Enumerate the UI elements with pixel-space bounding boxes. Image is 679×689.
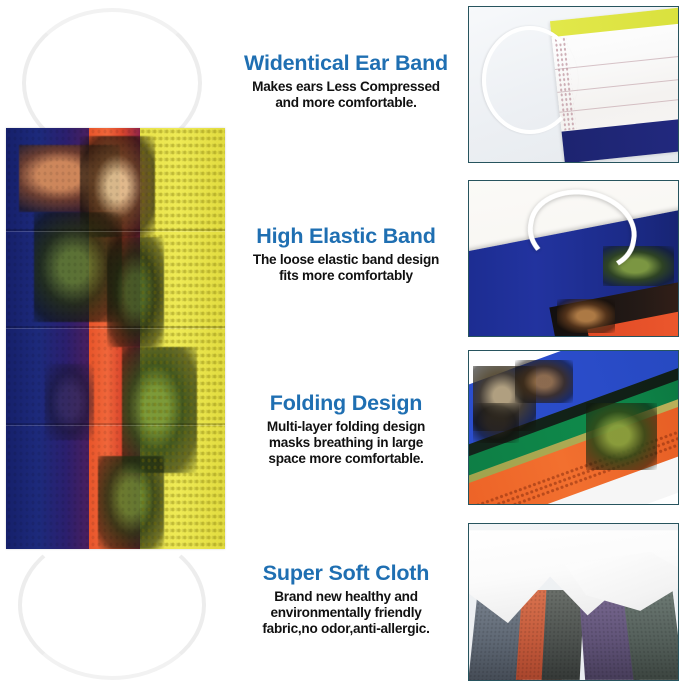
mask-top-edge-yellow — [550, 6, 679, 37]
feature-line: space more comfortable. — [268, 451, 423, 466]
panel-super-soft-cloth — [468, 523, 679, 681]
feature-title: Folding Design — [236, 392, 456, 415]
feature-folding-design: Folding Design Multi-layer folding desig… — [232, 392, 460, 467]
feature-description: Brand new healthy and environmentally fr… — [236, 589, 456, 637]
feature-line: Multi-layer folding design — [267, 419, 425, 434]
mask-perforation-texture-yellow — [140, 128, 225, 549]
feature-line: Brand new healthy and — [274, 589, 418, 604]
mask-pleat-line — [6, 423, 225, 425]
panel-4-background — [469, 524, 678, 680]
mask-seam-line — [559, 96, 679, 113]
feature-title: Widentical Ear Band — [236, 52, 456, 75]
panel-3-background — [469, 351, 678, 504]
lizard-print-claw — [473, 403, 519, 443]
feature-line: The loose elastic band design — [253, 252, 439, 267]
lizard-print-7 — [45, 364, 93, 440]
feature-line: Makes ears Less Compressed — [252, 79, 440, 94]
feature-description: Multi-layer folding design masks breathi… — [236, 419, 456, 467]
feature-title: High Elastic Band — [236, 225, 456, 248]
mask-body — [6, 128, 225, 549]
lizard-print-spine — [515, 360, 574, 403]
feature-wide-ear-band: Widentical Ear Band Makes ears Less Comp… — [232, 52, 460, 111]
wide-ear-loop — [482, 26, 578, 135]
hero-product-photo — [0, 0, 232, 689]
panel-folding-design — [468, 350, 679, 505]
panel-high-elastic-band — [468, 180, 679, 337]
feature-line: and more comfortable. — [275, 95, 416, 110]
feature-line: fits more comfortably — [279, 268, 413, 283]
lizard-print-brown — [557, 299, 616, 333]
photo-panel-column — [462, 0, 679, 689]
feature-list: Widentical Ear Band Makes ears Less Comp… — [232, 0, 460, 689]
infographic-page: Widentical Ear Band Makes ears Less Comp… — [0, 0, 679, 689]
feature-super-soft-cloth: Super Soft Cloth Brand new healthy and e… — [232, 562, 460, 637]
feature-description: The loose elastic band design fits more … — [236, 252, 456, 284]
ear-loop-bottom — [18, 530, 206, 680]
panel-2-background — [469, 181, 678, 336]
mask-bottom-edge-navy — [561, 116, 679, 163]
lizard-print-body — [586, 403, 657, 470]
feature-title: Super Soft Cloth — [236, 562, 456, 585]
panel-wide-ear-band — [468, 6, 679, 163]
mask-pleat-line — [6, 229, 225, 231]
feature-line: environmentally friendly — [270, 605, 421, 620]
feature-description: Makes ears Less Compressed and more comf… — [236, 79, 456, 111]
feature-high-elastic-band: High Elastic Band The loose elastic band… — [232, 225, 460, 284]
panel-1-background — [469, 7, 678, 162]
mask-pleat-line — [6, 326, 225, 328]
feature-line: masks breathing in large — [269, 435, 423, 450]
feature-line: fabric,no odor,anti-allergic. — [262, 621, 429, 636]
